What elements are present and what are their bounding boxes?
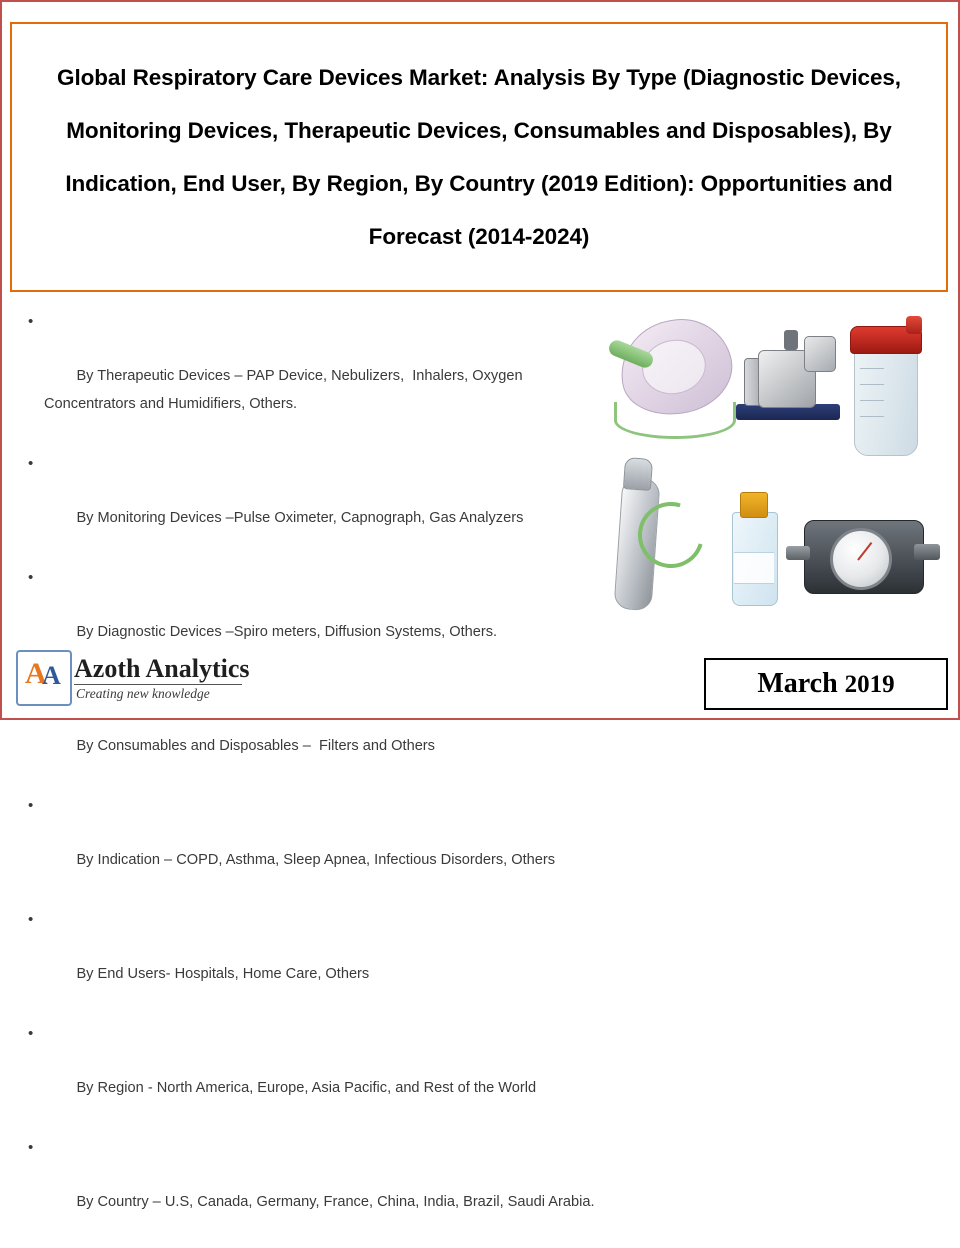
canister-graduation	[860, 384, 884, 385]
publication-month: March	[757, 668, 844, 699]
flowmeter-gauge-dial	[830, 528, 892, 590]
page-title: Global Respiratory Care Devices Market: …	[12, 51, 946, 263]
company-name: Azoth Analytics	[74, 654, 250, 684]
logo-mark-icon: A A	[16, 650, 72, 706]
mask-strap	[614, 402, 736, 439]
pump-head	[804, 336, 836, 372]
logo-divider	[74, 684, 242, 685]
list-item: • By Indication – COPD, Asthma, Sleep Ap…	[26, 792, 616, 902]
bullet-marker: •	[28, 792, 33, 820]
list-item-label: By Therapeutic Devices – PAP Device, Neb…	[44, 368, 527, 412]
pump-knob	[784, 330, 798, 350]
vial-cap	[740, 492, 768, 518]
bullet-marker: •	[28, 1134, 33, 1162]
flowmeter-inlet	[786, 546, 810, 560]
list-item-label: By Diagnostic Devices –Spiro meters, Dif…	[76, 624, 497, 640]
canister-spout	[906, 316, 922, 334]
bullet-marker: •	[28, 906, 33, 934]
list-item-label: By Indication – COPD, Asthma, Sleep Apne…	[76, 852, 555, 868]
report-content-area: • By Therapeutic Devices – PAP Device, N…	[10, 298, 948, 650]
logo-letter-a-blue: A	[42, 663, 61, 689]
company-logo: A A Azoth Analytics Creating new knowled…	[16, 648, 276, 706]
list-item-label: By Monitoring Devices –Pulse Oximeter, C…	[76, 510, 523, 526]
list-item: • By Therapeutic Devices – PAP Device, N…	[26, 308, 616, 446]
list-item: • By Region - North America, Europe, Asi…	[26, 1020, 616, 1130]
canister-graduation	[860, 400, 884, 401]
list-item-label: By Region - North America, Europe, Asia …	[76, 1080, 536, 1096]
list-item: • By Monitoring Devices –Pulse Oximeter,…	[26, 450, 616, 560]
list-item-label: By Consumables and Disposables – Filters…	[76, 738, 435, 754]
publication-year: 2019	[845, 671, 895, 698]
canister-body	[854, 346, 918, 456]
scope-bullet-list: • By Therapeutic Devices – PAP Device, N…	[26, 308, 616, 1248]
publication-date: March 2019	[757, 668, 894, 700]
bullet-marker: •	[28, 564, 33, 592]
canister-graduation	[860, 368, 884, 369]
product-image-collage	[608, 306, 938, 646]
nebulizer-mouthpiece	[623, 457, 653, 491]
list-item-label: By End Users- Hospitals, Home Care, Othe…	[76, 966, 369, 982]
canister-graduation	[860, 416, 884, 417]
bullet-marker: •	[28, 1020, 33, 1048]
company-tagline: Creating new knowledge	[76, 686, 210, 702]
list-item-label: By Country – U.S, Canada, Germany, Franc…	[76, 1194, 594, 1210]
vial-label	[734, 552, 774, 584]
bullet-marker: •	[28, 450, 33, 478]
list-item: • By Country – U.S, Canada, Germany, Fra…	[26, 1134, 616, 1244]
bullet-marker: •	[28, 308, 33, 336]
report-title-box: Global Respiratory Care Devices Market: …	[10, 22, 948, 292]
list-item: • By End Users- Hospitals, Home Care, Ot…	[26, 906, 616, 1016]
report-cover-page: Global Respiratory Care Devices Market: …	[0, 0, 960, 720]
publication-date-badge: March 2019	[704, 658, 948, 710]
flowmeter-outlet	[914, 544, 940, 560]
